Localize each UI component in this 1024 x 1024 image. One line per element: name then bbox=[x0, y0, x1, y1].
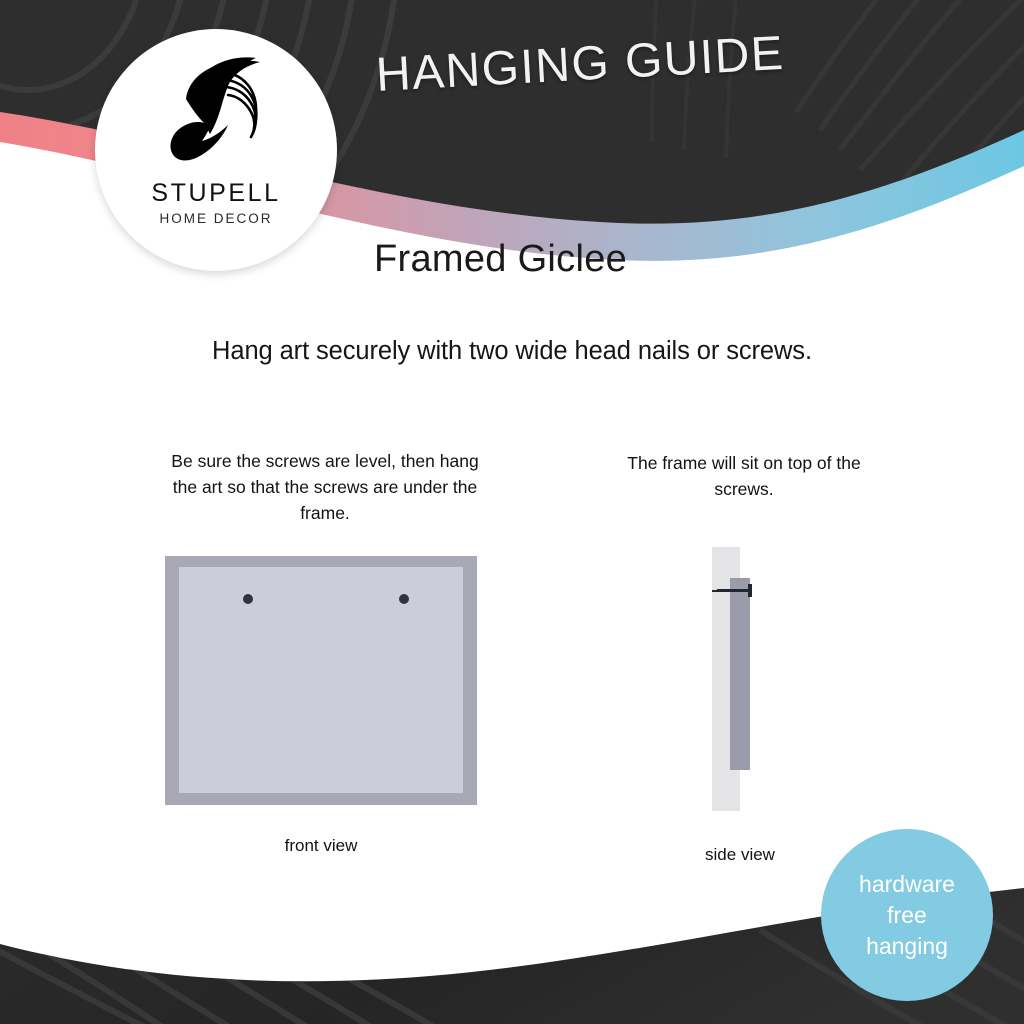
product-type-label: Framed Giclee bbox=[374, 238, 627, 281]
front-view-art-panel bbox=[179, 567, 463, 793]
main-instruction-text: Hang art securely with two wide head nai… bbox=[0, 337, 1024, 366]
screw-shaft-icon bbox=[717, 589, 751, 592]
brand-sub-wordmark: HOME DECOR bbox=[159, 211, 272, 226]
brand-logo-badge: STUPELL HOME DECOR bbox=[95, 29, 337, 271]
front-view-caption: Be sure the screws are level, then hang … bbox=[160, 448, 490, 526]
front-view-diagram bbox=[165, 556, 477, 805]
side-view-diagram bbox=[700, 547, 780, 811]
badge-line-3: hanging bbox=[866, 931, 948, 962]
hardware-free-hanging-badge: hardware free hanging bbox=[821, 829, 993, 1001]
side-view-frame bbox=[730, 578, 750, 770]
screw-head-icon bbox=[748, 584, 752, 597]
brand-wordmark: STUPELL bbox=[151, 179, 280, 208]
page-title: HANGING GUIDE bbox=[375, 26, 786, 103]
side-view-label: side view bbox=[646, 845, 834, 865]
side-view-caption: The frame will sit on top of the screws. bbox=[600, 450, 888, 502]
badge-line-2: free bbox=[887, 900, 927, 931]
screw-dot-right-icon bbox=[399, 594, 409, 604]
front-view-label: front view bbox=[216, 836, 426, 856]
badge-line-1: hardware bbox=[859, 869, 955, 900]
hanging-guide-page: STUPELL HOME DECOR HANGING GUIDE Framed … bbox=[0, 0, 1024, 1024]
screw-dot-left-icon bbox=[243, 594, 253, 604]
stupell-swoosh-logo-icon bbox=[164, 53, 268, 175]
